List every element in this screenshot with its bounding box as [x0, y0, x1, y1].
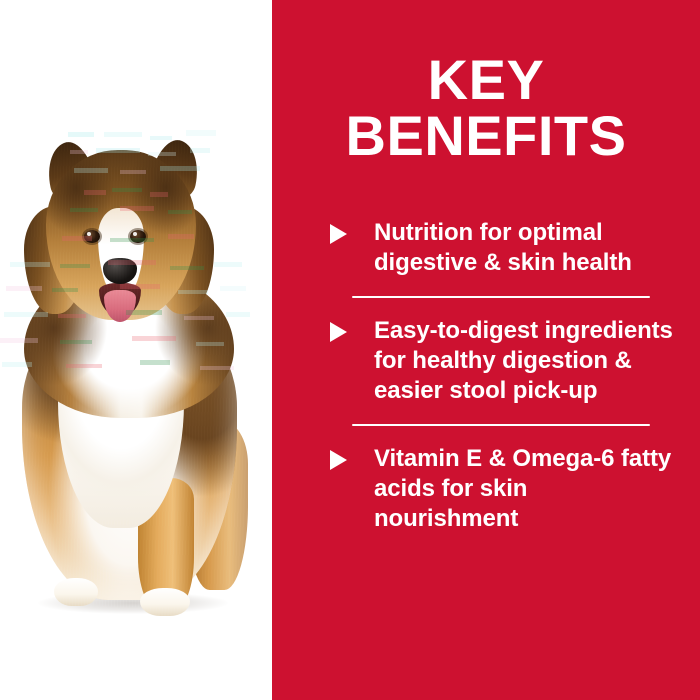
product-photo-panel [0, 0, 272, 700]
key-benefits-panel: KEY BENEFITS Nutrition for optimal diges… [0, 0, 700, 700]
benefits-list: Nutrition for optimal digestive & skin h… [330, 218, 700, 534]
triangle-right-icon [330, 320, 352, 344]
dog-eye-glint-left [87, 232, 91, 236]
title-line-1: KEY [272, 52, 700, 108]
benefit-divider [352, 296, 650, 298]
benefit-text: Vitamin E & Omega-6 fatty acids for skin… [374, 444, 674, 534]
benefit-text: Easy-to-digest ingredients for healthy d… [374, 316, 674, 406]
benefit-divider [352, 424, 650, 426]
benefits-panel: KEY BENEFITS Nutrition for optimal diges… [272, 0, 700, 700]
title-line-2: BENEFITS [272, 108, 700, 164]
triangle-right-icon [330, 222, 352, 246]
shetland-sheepdog-photo [0, 0, 272, 700]
dog-paw-left [54, 578, 98, 606]
benefit-item: Easy-to-digest ingredients for healthy d… [330, 316, 700, 406]
dog-eye-glint-right [133, 232, 137, 236]
benefit-item: Vitamin E & Omega-6 fatty acids for skin… [330, 444, 700, 534]
benefit-item: Nutrition for optimal digestive & skin h… [330, 218, 700, 278]
triangle-right-icon [330, 448, 352, 472]
page-title: KEY BENEFITS [272, 52, 700, 164]
benefit-text: Nutrition for optimal digestive & skin h… [374, 218, 674, 278]
dog-paw-right [140, 588, 190, 616]
